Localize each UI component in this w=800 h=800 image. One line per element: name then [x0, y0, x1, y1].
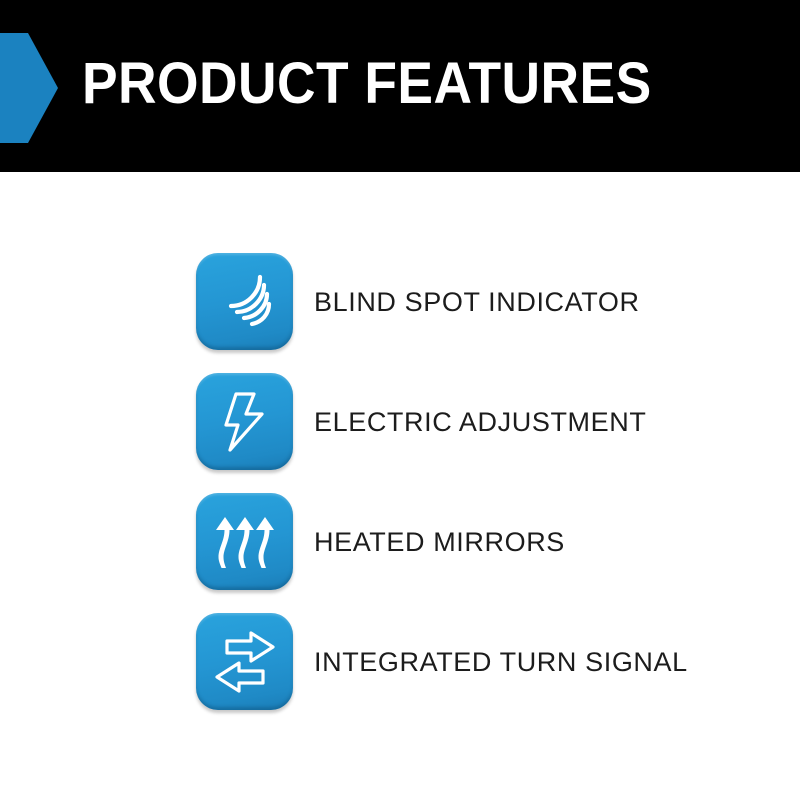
- chevron-right-hexagon-icon: [0, 33, 58, 143]
- feature-icon-tile: [196, 253, 293, 350]
- list-item: BLIND SPOT INDICATOR: [196, 253, 756, 350]
- list-item: ELECTRIC ADJUSTMENT: [196, 373, 756, 470]
- feature-icon-tile: [196, 373, 293, 470]
- feature-icon-tile: [196, 613, 293, 710]
- page-title: PRODUCT FEATURES: [82, 54, 652, 114]
- list-item: HEATED MIRRORS: [196, 493, 756, 590]
- feature-label: BLIND SPOT INDICATOR: [314, 287, 640, 317]
- heat-arrows-icon: [213, 511, 277, 573]
- signal-waves-icon: [214, 271, 276, 333]
- page-header: PRODUCT FEATURES: [0, 0, 800, 172]
- feature-label: HEATED MIRRORS: [314, 527, 565, 557]
- feature-icon-tile: [196, 493, 293, 590]
- feature-label: ELECTRIC ADJUSTMENT: [314, 407, 646, 437]
- list-item: INTEGRATED TURN SIGNAL: [196, 613, 756, 710]
- product-features-list: BLIND SPOT INDICATOR ELECTRIC ADJUSTMENT…: [196, 253, 756, 710]
- exchange-arrows-icon: [213, 631, 277, 693]
- feature-label: INTEGRATED TURN SIGNAL: [314, 647, 688, 677]
- lightning-bolt-icon: [214, 391, 276, 453]
